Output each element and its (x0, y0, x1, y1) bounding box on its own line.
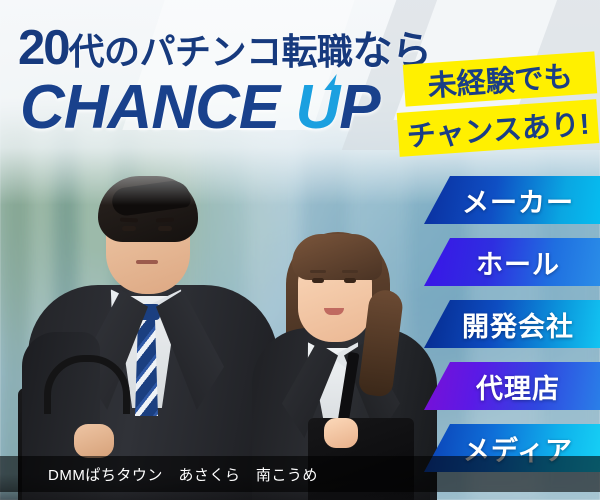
headline: 20代のパチンコ転職なら (18, 18, 432, 76)
category-button-development-company[interactable]: 開発会社 (424, 300, 600, 348)
logo-p-letter: P (339, 73, 379, 142)
logo-chance-text: CHANCE (20, 73, 295, 142)
category-button-maker[interactable]: メーカー (424, 176, 600, 224)
category-button-hall[interactable]: ホール (424, 238, 600, 286)
headline-number: 20 (18, 21, 69, 75)
category-label-agency: 代理店 (476, 367, 560, 406)
category-button-agency[interactable]: 代理店 (424, 362, 600, 410)
category-label-maker: メーカー (462, 181, 574, 220)
logo-chance-up: CHANCE UP (20, 72, 380, 143)
credit-text: DMMぱちタウン あさくら 南こうめ (0, 464, 318, 485)
category-label-hall: ホール (476, 243, 560, 282)
credit-bar: DMMぱちタウン あさくら 南こうめ (0, 456, 600, 492)
headline-middle: 代のパチンコ転職 (69, 31, 353, 72)
recruitment-banner[interactable]: 20代のパチンコ転職なら CHANCE UP 未経験でも チャンスあり! メーカ… (0, 0, 600, 500)
logo-u-letter: U (295, 72, 339, 143)
category-label-development-company: 開発会社 (462, 305, 574, 344)
category-button-list: メーカー ホール 開発会社 代理店 メディア (0, 176, 600, 486)
